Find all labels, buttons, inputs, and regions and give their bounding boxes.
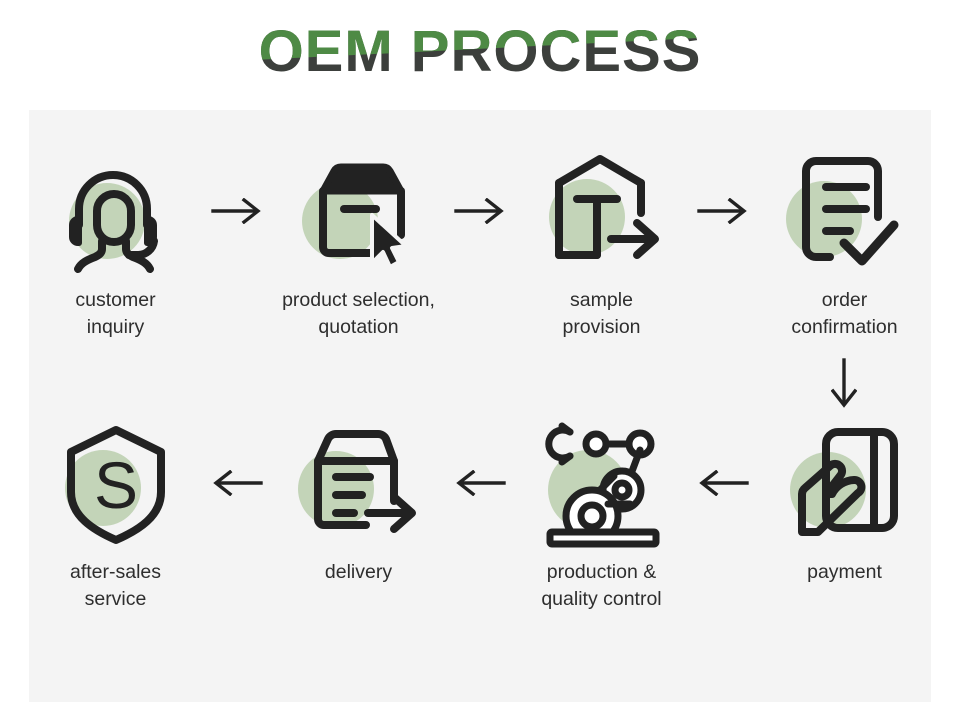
- page-title: OEM PROCESS OEM PROCESS: [0, 22, 960, 83]
- step-production-quality-control[interactable]: production & quality control: [515, 420, 688, 613]
- box-cursor-icon: [294, 148, 424, 273]
- step-label: delivery: [325, 559, 392, 586]
- page-title-text: OEM PROCESS: [259, 19, 702, 84]
- shield-s-icon: S: [51, 420, 181, 545]
- diagram-panel: customer inquiry: [29, 110, 931, 702]
- step-payment[interactable]: payment: [758, 420, 931, 586]
- process-row-top: customer inquiry: [29, 148, 931, 341]
- connector-arrow-left: [445, 420, 515, 545]
- connector-arrow-left: [202, 420, 272, 545]
- hand-credit-card-icon: [780, 420, 910, 545]
- connector-arrow-right: [202, 148, 272, 273]
- step-sample-provision[interactable]: sample provision: [515, 148, 688, 341]
- step-label: sample provision: [562, 287, 640, 341]
- step-after-sales-service[interactable]: S after-sales service: [29, 420, 202, 613]
- connector-arrow-right: [445, 148, 515, 273]
- connector-arrow-down: [831, 358, 857, 410]
- step-product-selection-quotation[interactable]: product selection, quotation: [272, 148, 445, 341]
- step-label: product selection, quotation: [282, 287, 435, 341]
- warehouse-arrow-out-icon: [537, 148, 667, 273]
- document-check-icon: [780, 148, 910, 273]
- connector-arrow-right: [688, 148, 758, 273]
- robot-arm-icon: [537, 420, 667, 545]
- step-delivery[interactable]: delivery: [272, 420, 445, 586]
- svg-text:S: S: [93, 448, 137, 522]
- connector-arrow-left: [688, 420, 758, 545]
- step-customer-inquiry[interactable]: customer inquiry: [29, 148, 202, 341]
- step-label: customer inquiry: [75, 287, 155, 341]
- process-row-bottom: S after-sales service: [29, 420, 931, 613]
- step-label: production & quality control: [541, 559, 661, 613]
- step-label: payment: [807, 559, 882, 586]
- step-label: after-sales service: [70, 559, 161, 613]
- oem-process-infographic: OEM PROCESS OEM PROCESS: [0, 0, 960, 725]
- headset-support-icon: [51, 148, 181, 273]
- step-order-confirmation[interactable]: order confirmation: [758, 148, 931, 341]
- step-label: order confirmation: [791, 287, 897, 341]
- connector-arrow-down-wrap: [29, 358, 931, 410]
- box-lines-arrow-icon: [294, 420, 424, 545]
